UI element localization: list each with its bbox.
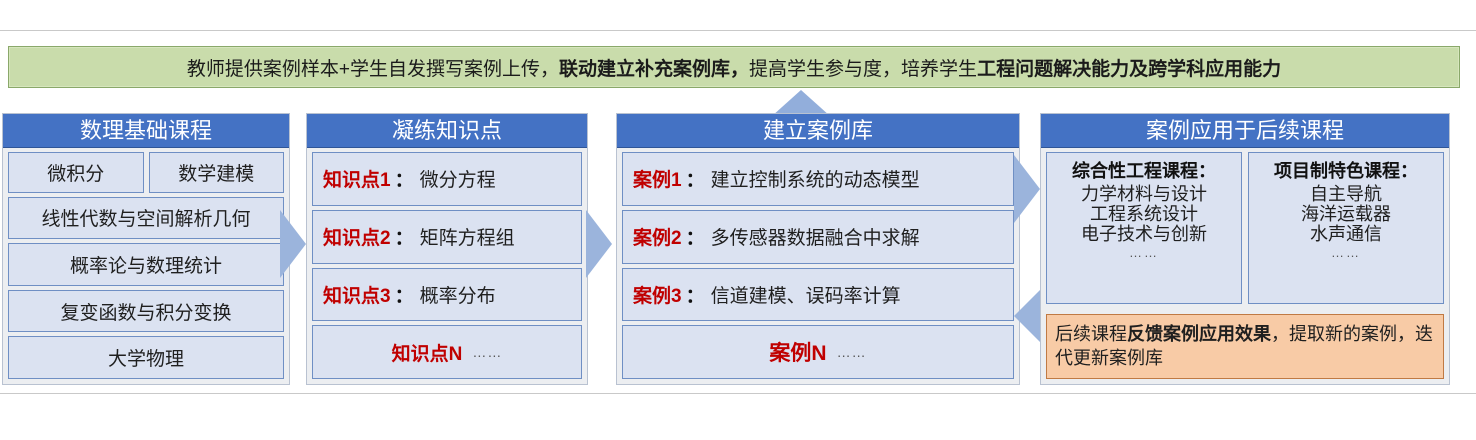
course-item[interactable]: 线性代数与空间解析几何 [8,197,284,240]
course-item[interactable]: 微积分 [8,152,144,193]
feedback-text-bold: 反馈案例应用效果 [1127,324,1271,344]
arrow-right-icon [280,210,306,278]
course-item[interactable]: 数学建模 [149,152,285,193]
knowledge-point-label: 知识点N [392,339,463,366]
column-case-library: 建立案例库 案例1：建立控制系统的动态模型 案例2：多传感器数据融合中求解 案例… [616,113,1020,385]
card-line: 海洋运载器 [1301,204,1391,224]
banner-text-bold-2: 工程问题解决能力及跨学科应用能力 [977,54,1281,81]
bottom-divider [0,393,1476,394]
knowledge-point-item[interactable]: 知识点2：矩阵方程组 [312,210,582,264]
case-colon: ： [686,165,705,192]
ellipsis-text: …… [837,344,867,360]
course-item[interactable]: 概率论与数理统计 [8,243,284,286]
card-line: 水声通信 [1310,224,1382,244]
case-label: 案例3 [633,281,682,308]
column-math-foundation: 数理基础课程 微积分 数学建模 线性代数与空间解析几何 概率论与数理统计 复变函… [2,113,290,385]
card-line: 工程系统设计 [1090,204,1198,224]
course-card-comprehensive[interactable]: 综合性工程课程： 力学材料与设计 工程系统设计 电子技术与创新 …… [1046,152,1242,304]
ellipsis-text: …… [472,344,502,360]
card-title: 项目制特色课程： [1274,157,1418,183]
case-label: 案例1 [633,165,682,192]
course-item[interactable]: 大学物理 [8,336,284,379]
case-label: 案例2 [633,223,682,250]
banner-text-bold-1: 联动建立补充案例库， [559,54,749,81]
knowledge-point-label: 知识点1 [323,165,391,192]
column-knowledge-points: 凝练知识点 知识点1：微分方程 知识点2：矩阵方程组 知识点3：概率分布 知识点… [306,113,588,385]
arrow-left-icon [1014,290,1040,342]
arrow-right-icon [586,210,612,278]
course-card-project-based[interactable]: 项目制特色课程： 自主导航 海洋运载器 水声通信 …… [1248,152,1444,304]
summary-banner: 教师提供案例样本+学生自发撰写案例上传，联动建立补充案例库，提高学生参与度，培养… [8,46,1460,88]
case-item-n[interactable]: 案例N…… [622,325,1014,379]
feedback-text-normal-1: 后续课程 [1055,324,1127,344]
column-1-body: 微积分 数学建模 线性代数与空间解析几何 概率论与数理统计 复变函数与积分变换 … [3,148,289,384]
knowledge-point-item[interactable]: 知识点1：微分方程 [312,152,582,206]
column-3-title: 建立案例库 [617,114,1019,148]
knowledge-point-text: 微分方程 [420,165,496,192]
column-2-body: 知识点1：微分方程 知识点2：矩阵方程组 知识点3：概率分布 知识点N…… [307,148,587,384]
column-3-body: 案例1：建立控制系统的动态模型 案例2：多传感器数据融合中求解 案例3：信道建模… [617,148,1019,384]
knowledge-point-label: 知识点3 [323,281,391,308]
case-text: 多传感器数据融合中求解 [711,223,920,250]
knowledge-point-item[interactable]: 知识点3：概率分布 [312,268,582,322]
knowledge-point-label: 知识点2 [323,223,391,250]
banner-text-normal-1: 教师提供案例样本+学生自发撰写案例上传， [187,54,559,81]
case-text: 建立控制系统的动态模型 [711,165,920,192]
case-text: 信道建模、误码率计算 [711,281,901,308]
column-2-title: 凝练知识点 [307,114,587,148]
course-item[interactable]: 复变函数与积分变换 [8,290,284,333]
ellipsis-text: …… [1129,245,1159,260]
card-title: 综合性工程课程： [1072,157,1216,183]
knowledge-point-colon: ： [395,281,414,308]
card-line: 力学材料与设计 [1081,184,1207,204]
card-line: 自主导航 [1310,184,1382,204]
banner-text-normal-2: 提高学生参与度，培养学生 [749,54,977,81]
column-applied-courses: 案例应用于后续课程 综合性工程课程： 力学材料与设计 工程系统设计 电子技术与创… [1040,113,1450,385]
feedback-box[interactable]: 后续课程反馈案例应用效果，提取新的案例，迭代更新案例库 [1046,314,1444,379]
case-item[interactable]: 案例3：信道建模、误码率计算 [622,268,1014,322]
card-line: 电子技术与创新 [1081,224,1207,244]
knowledge-point-item-n[interactable]: 知识点N…… [312,325,582,379]
knowledge-point-colon: ： [395,165,414,192]
arrow-right-icon [1014,155,1040,223]
column-4-body: 综合性工程课程： 力学材料与设计 工程系统设计 电子技术与创新 …… 项目制特色… [1041,148,1449,384]
column-4-card-row: 综合性工程课程： 力学材料与设计 工程系统设计 电子技术与创新 …… 项目制特色… [1046,152,1444,304]
column-4-title: 案例应用于后续课程 [1041,114,1449,148]
column-1-title: 数理基础课程 [3,114,289,148]
top-divider [0,30,1476,31]
diagram-canvas: 教师提供案例样本+学生自发撰写案例上传，联动建立补充案例库，提高学生参与度，培养… [0,0,1476,440]
ellipsis-text: …… [1331,245,1361,260]
case-label: 案例N [769,337,826,367]
knowledge-point-text: 矩阵方程组 [420,223,515,250]
case-colon: ： [686,223,705,250]
case-colon: ： [686,281,705,308]
column-1-row-pair: 微积分 数学建模 [8,152,284,193]
knowledge-point-text: 概率分布 [420,281,496,308]
case-item[interactable]: 案例1：建立控制系统的动态模型 [622,152,1014,206]
case-item[interactable]: 案例2：多传感器数据融合中求解 [622,210,1014,264]
knowledge-point-colon: ： [395,223,414,250]
